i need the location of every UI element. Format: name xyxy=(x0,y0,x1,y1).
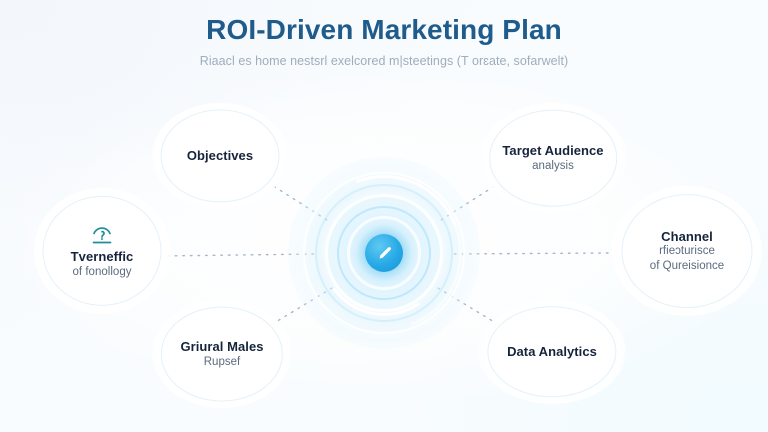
node-label: Objectives xyxy=(181,148,259,164)
node-subtitle: analysis xyxy=(526,159,580,173)
hub-core[interactable] xyxy=(365,234,403,272)
infographic-canvas: ROI-Driven Marketing Plan Riaacl es home… xyxy=(0,0,768,432)
node-label: Data Analytics xyxy=(501,344,603,360)
page-title: ROI-Driven Marketing Plan xyxy=(0,14,768,46)
node-objectives[interactable]: Objectives xyxy=(152,103,288,209)
question-mark-icon xyxy=(89,222,115,246)
node-label: Griural Males xyxy=(174,339,269,355)
node-tverneffic[interactable]: Tverneffic of fonollogy xyxy=(34,188,170,314)
node-griural-males[interactable]: Griural Males Rupsef xyxy=(152,300,292,408)
node-label: Tverneffic xyxy=(65,249,140,265)
node-target-audience[interactable]: Target Audience analysis xyxy=(480,103,626,213)
node-label: Channel xyxy=(655,229,719,245)
node-data-analytics[interactable]: Data Analytics xyxy=(478,300,626,404)
node-channel[interactable]: Channel rfieɔturisce of Qureisionce xyxy=(612,186,762,316)
node-label: Target Audience xyxy=(496,143,609,159)
node-subtitle-line2: of Qureisionce xyxy=(644,259,730,273)
header: ROI-Driven Marketing Plan Riaacl es home… xyxy=(0,14,768,69)
node-subtitle: Rupsef xyxy=(198,355,247,369)
node-subtitle: rfieɔturisce xyxy=(653,244,721,258)
page-subtitle: Riaacl es home nestsrl exelcored m|steet… xyxy=(0,54,768,69)
pencil-icon xyxy=(376,245,393,262)
node-subtitle: of fonollogy xyxy=(66,265,137,279)
